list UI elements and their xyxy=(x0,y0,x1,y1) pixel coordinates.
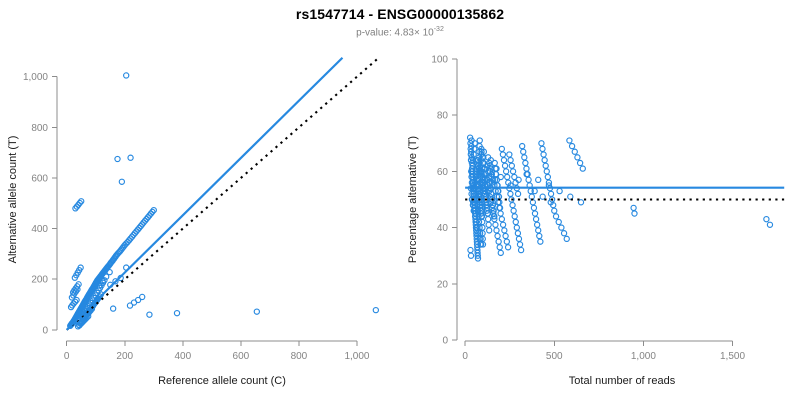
x-tick-label: 200 xyxy=(116,351,133,362)
data-point xyxy=(548,191,553,196)
plot-area xyxy=(465,135,784,261)
data-point xyxy=(564,236,569,241)
data-point xyxy=(115,156,120,161)
x-tick-label: 600 xyxy=(233,351,250,362)
data-point xyxy=(515,191,520,196)
data-point xyxy=(502,228,507,233)
data-point xyxy=(532,211,537,216)
data-point xyxy=(486,217,491,222)
data-point xyxy=(504,169,509,174)
x-tick-label: 500 xyxy=(546,351,563,362)
data-point xyxy=(569,144,574,149)
data-point xyxy=(512,214,517,219)
data-point xyxy=(540,146,545,151)
data-point xyxy=(500,152,505,157)
data-point xyxy=(124,73,129,78)
data-point xyxy=(497,245,502,250)
data-point xyxy=(510,203,515,208)
reference-line xyxy=(67,58,379,330)
data-point xyxy=(499,217,504,222)
data-point xyxy=(507,152,512,157)
page-title: rs1547714 - ENSG00000135862 xyxy=(0,6,800,22)
y-tick-label: 20 xyxy=(437,279,449,290)
fit-line xyxy=(67,58,343,330)
data-point xyxy=(508,158,513,163)
y-tick-label: 1,000 xyxy=(23,72,48,83)
x-axis-title: Reference allele count (C) xyxy=(158,375,286,387)
data-point xyxy=(632,211,637,216)
data-point xyxy=(552,208,557,213)
data-point xyxy=(575,155,580,160)
data-point xyxy=(140,294,145,299)
data-point xyxy=(557,188,562,193)
y-tick-label: 200 xyxy=(31,275,48,286)
data-point xyxy=(522,155,527,160)
scatter-panel-percentage-vs-reads: 02040608010005001,0001,500Total number o… xyxy=(400,45,800,400)
data-point xyxy=(147,312,152,317)
data-point xyxy=(631,205,636,210)
data-point xyxy=(504,239,509,244)
y-tick-label: 100 xyxy=(431,55,448,66)
data-point xyxy=(533,217,538,222)
data-point xyxy=(509,163,514,168)
data-point xyxy=(578,160,583,165)
y-axis-title: Percentage alternative (T) xyxy=(407,136,419,263)
data-point xyxy=(536,228,541,233)
data-point xyxy=(498,250,503,255)
data-point xyxy=(254,309,259,314)
data-point xyxy=(492,160,497,165)
data-point xyxy=(495,233,500,238)
x-tick-label: 1,000 xyxy=(631,351,656,362)
data-point xyxy=(519,247,524,252)
y-tick-label: 0 xyxy=(42,325,48,336)
data-point xyxy=(128,155,133,160)
data-point xyxy=(545,174,550,179)
data-point xyxy=(553,214,558,219)
data-point xyxy=(559,225,564,230)
y-tick-label: 600 xyxy=(31,173,48,184)
data-point xyxy=(508,191,513,196)
data-point xyxy=(501,222,506,227)
data-point xyxy=(544,169,549,174)
data-point xyxy=(494,228,499,233)
data-point xyxy=(496,239,501,244)
figure-root: rs1547714 - ENSG00000135862 p-value: 4.8… xyxy=(0,0,800,400)
data-point xyxy=(767,222,772,227)
data-point xyxy=(499,146,504,151)
data-point xyxy=(524,166,529,171)
data-point xyxy=(174,311,179,316)
x-tick-label: 1,000 xyxy=(344,351,369,362)
x-tick-label: 0 xyxy=(64,351,70,362)
scatter-plot-right-svg: 02040608010005001,0001,500Total number o… xyxy=(400,45,800,400)
data-point xyxy=(764,217,769,222)
x-tick-label: 0 xyxy=(462,351,468,362)
x-tick-label: 800 xyxy=(291,351,308,362)
data-point xyxy=(107,270,112,275)
data-point xyxy=(487,228,492,233)
data-point xyxy=(477,138,482,143)
data-point xyxy=(561,231,566,236)
x-tick-label: 1,500 xyxy=(720,351,745,362)
pvalue-subtitle: p-value: 4.83× 10-32 xyxy=(0,26,800,38)
scatter-panel-reference-vs-alternative: 02004006008001,00002004006008001,000Refe… xyxy=(0,45,400,400)
data-point xyxy=(119,179,124,184)
data-point xyxy=(531,205,536,210)
y-tick-label: 60 xyxy=(437,167,449,178)
data-point xyxy=(373,308,378,313)
x-tick-label: 400 xyxy=(174,351,191,362)
y-tick-label: 400 xyxy=(31,224,48,235)
data-point xyxy=(501,158,506,163)
y-tick-label: 80 xyxy=(437,111,449,122)
pvalue-text: p-value: 4.83× 10 xyxy=(356,27,434,38)
data-point xyxy=(580,166,585,171)
data-point xyxy=(505,245,510,250)
data-point xyxy=(516,236,521,241)
y-tick-label: 40 xyxy=(437,223,449,234)
data-point xyxy=(536,177,541,182)
plot-area xyxy=(67,58,379,330)
data-point xyxy=(572,149,577,154)
data-point xyxy=(513,219,518,224)
data-point xyxy=(515,231,520,236)
y-tick-label: 0 xyxy=(442,336,448,347)
data-point xyxy=(517,242,522,247)
data-point xyxy=(503,233,508,238)
data-point xyxy=(521,149,526,154)
data-point xyxy=(486,222,491,227)
data-point xyxy=(510,169,515,174)
data-point xyxy=(468,247,473,252)
y-tick-label: 800 xyxy=(31,123,48,134)
data-point xyxy=(520,144,525,149)
data-point xyxy=(541,152,546,157)
data-point xyxy=(523,160,528,165)
data-point xyxy=(526,177,531,182)
data-point xyxy=(468,253,473,258)
data-point xyxy=(514,225,519,230)
y-axis-title: Alternative allele count (T) xyxy=(7,136,19,264)
scatter-plot-left-svg: 02004006008001,00002004006008001,000Refe… xyxy=(0,45,400,400)
data-point xyxy=(511,208,516,213)
data-point xyxy=(543,163,548,168)
data-point xyxy=(538,239,543,244)
data-point xyxy=(502,163,507,168)
x-axis-title: Total number of reads xyxy=(569,375,676,387)
data-point xyxy=(498,211,503,216)
pvalue-exponent: -32 xyxy=(434,26,444,33)
data-point xyxy=(493,222,498,227)
data-point xyxy=(539,141,544,146)
data-point xyxy=(567,138,572,143)
data-point xyxy=(505,174,510,179)
data-point xyxy=(556,219,561,224)
data-point xyxy=(542,158,547,163)
data-point xyxy=(537,233,542,238)
data-point xyxy=(535,222,540,227)
data-point xyxy=(111,306,116,311)
